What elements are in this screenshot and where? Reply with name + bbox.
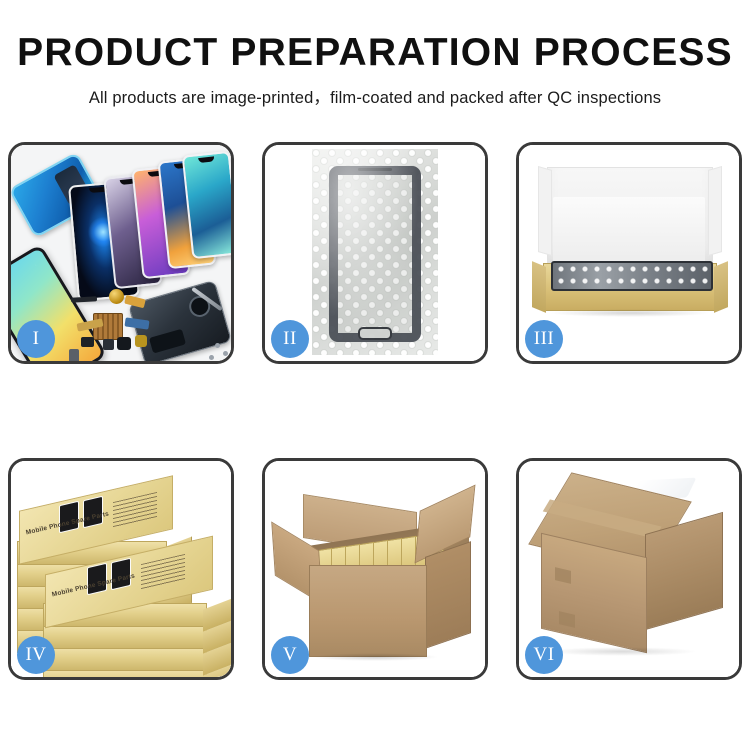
- speaker-coil-part: [109, 289, 124, 304]
- flex-cable-part-3: [124, 317, 149, 329]
- box-shadow: [549, 309, 711, 317]
- page-header: PRODUCT PREPARATION PROCESS All products…: [0, 0, 750, 108]
- process-step-panel-4: Mobile Phone Spare Parts Mobile Phone Sp…: [8, 458, 234, 680]
- wrapped-screen-in-box: [551, 261, 713, 291]
- step-badge-3: III: [525, 320, 563, 358]
- carton-side-face: [425, 541, 471, 649]
- carton-shadow: [547, 647, 697, 656]
- chip-part-1: [81, 337, 94, 347]
- box-foam-insert: [553, 197, 705, 263]
- step-badge-4: IV: [17, 636, 55, 674]
- page-title: PRODUCT PREPARATION PROCESS: [0, 32, 750, 73]
- process-step-panel-3: III: [516, 142, 742, 364]
- carton-front-face: [309, 565, 427, 657]
- process-step-panel-5: V: [262, 458, 488, 680]
- step-badge-1: I: [17, 320, 55, 358]
- bubble-wrap-film: [312, 149, 438, 355]
- process-step-grid: I II III: [8, 142, 742, 680]
- step-badge-6: VI: [525, 636, 563, 674]
- process-step-panel-2: II: [262, 142, 488, 364]
- page-subtitle: All products are image-printed，film-coat…: [0, 84, 750, 108]
- black-strip-part: [71, 296, 97, 302]
- battery-part: [69, 349, 79, 361]
- step-badge-5: V: [271, 636, 309, 674]
- camera-module-part: [135, 335, 147, 347]
- screw-part-2: [223, 351, 228, 356]
- process-step-panel-1: I: [8, 142, 234, 364]
- stacked-box: [43, 647, 207, 671]
- process-step-panel-6: VI: [516, 458, 742, 680]
- screw-part-3: [209, 355, 214, 360]
- stacked-box: [43, 625, 207, 649]
- chip-part-2: [103, 339, 114, 350]
- step-badge-2: II: [271, 320, 309, 358]
- screw-part-1: [215, 343, 220, 348]
- sealed-carton-right-face: [645, 512, 723, 630]
- flex-cable-part-1: [124, 295, 146, 309]
- carton-shadow: [311, 653, 439, 661]
- film-gloss: [312, 149, 438, 355]
- speaker-part: [117, 337, 131, 350]
